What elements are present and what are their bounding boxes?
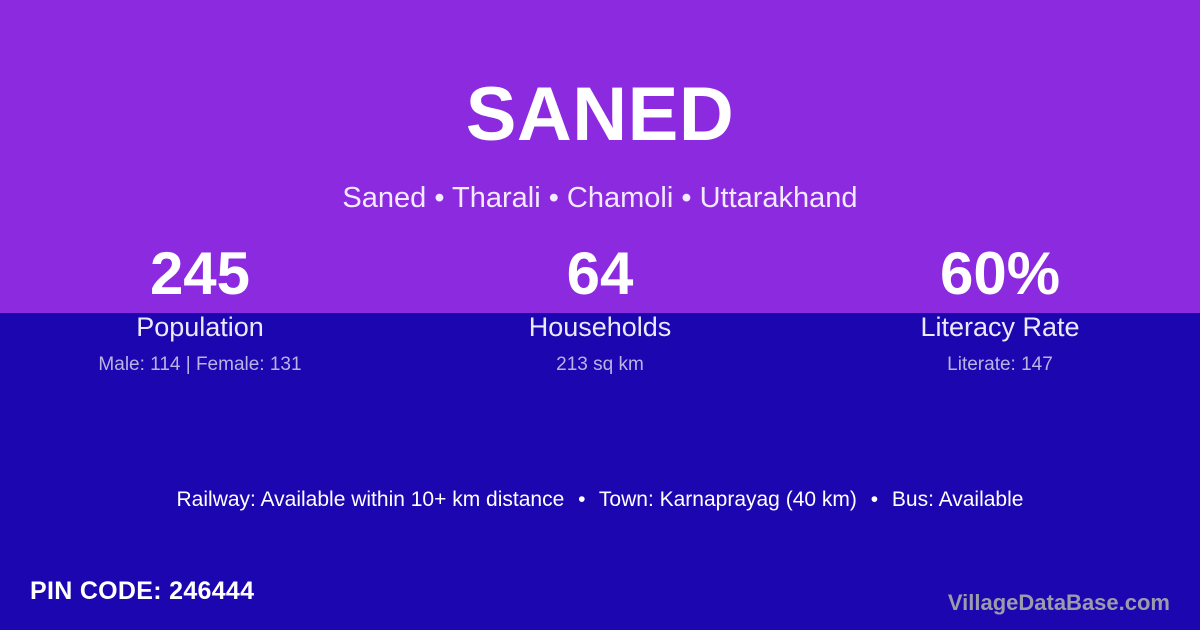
- site-brand: VillageDataBase.com: [948, 589, 1170, 617]
- village-info-card: SANED Saned • Tharali • Chamoli • Uttara…: [0, 0, 1200, 630]
- amenity-separator-1: •: [570, 486, 593, 514]
- stat-literacy-rate-label: Literacy Rate: [800, 309, 1200, 345]
- stat-population-label: Population: [0, 309, 400, 345]
- stat-households-label: Households: [400, 309, 800, 345]
- stat-literacy-rate: 60% Literacy Rate Literate: 147: [800, 243, 1200, 378]
- amenity-separator-2: •: [863, 486, 886, 514]
- amenity-bus: Bus: Available: [892, 488, 1024, 511]
- stat-households-value: 64: [400, 243, 800, 305]
- stat-households-sub: 213 sq km: [400, 352, 800, 378]
- amenities-line: Railway: Available within 10+ km distanc…: [0, 486, 1200, 514]
- stat-population-sub: Male: 114 | Female: 131: [0, 352, 400, 378]
- amenity-town: Town: Karnaprayag (40 km): [599, 488, 857, 511]
- stat-literacy-rate-sub: Literate: 147: [800, 352, 1200, 378]
- page-title: SANED: [0, 77, 1200, 153]
- stat-literacy-rate-value: 60%: [800, 243, 1200, 305]
- pin-code: PIN CODE: 246444: [30, 576, 254, 606]
- breadcrumb: Saned • Tharali • Chamoli • Uttarakhand: [0, 182, 1200, 215]
- amenity-railway: Railway: Available within 10+ km distanc…: [177, 488, 565, 511]
- stat-population-value: 245: [0, 243, 400, 305]
- stat-population: 245 Population Male: 114 | Female: 131: [0, 243, 400, 378]
- stats-row: 245 Population Male: 114 | Female: 131 6…: [0, 243, 1200, 378]
- stat-households: 64 Households 213 sq km: [400, 243, 800, 378]
